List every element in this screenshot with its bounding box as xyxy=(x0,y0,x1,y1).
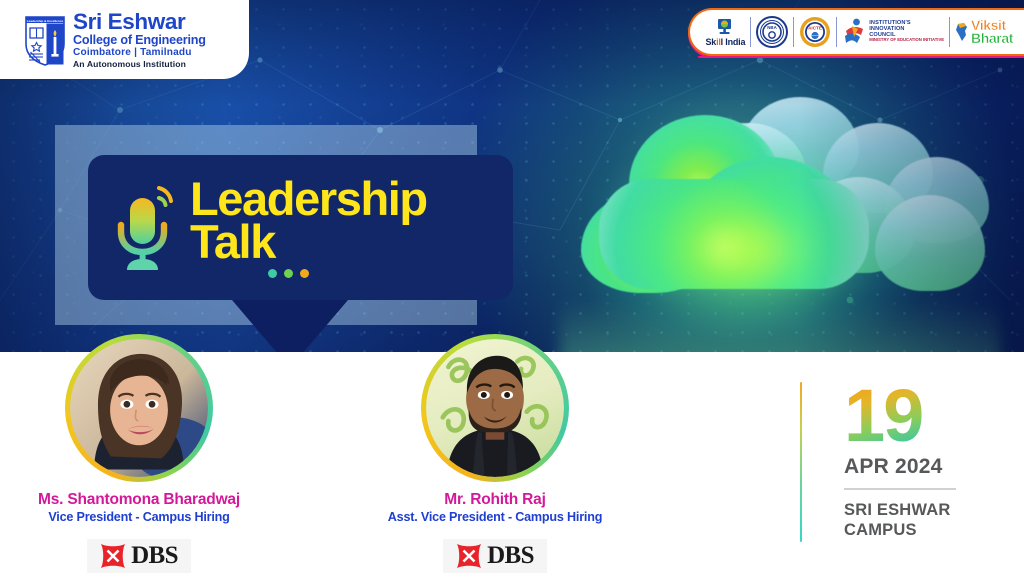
dot-3 xyxy=(300,269,309,278)
dbs-logo-icon xyxy=(456,543,482,569)
accreditation-iic: INSTITUTION'S INNOVATION COUNCIL MINISTR… xyxy=(837,12,949,52)
institution-location: Coimbatore | Tamilnadu xyxy=(73,48,206,58)
iic-line4: MINISTRY OF EDUCATION INITIATIVE xyxy=(869,38,944,42)
event-title-line2: Talk xyxy=(190,220,427,263)
accreditation-strip: Skill India NBA xyxy=(688,8,1024,56)
skill-india-label: Skill India xyxy=(705,37,745,47)
bharat-label: Bharat xyxy=(971,32,1013,45)
gradient-divider xyxy=(800,382,802,542)
microphone-icon xyxy=(114,184,176,272)
avatar xyxy=(70,339,208,477)
company-logo-2: DBS xyxy=(443,539,547,573)
event-title-badge: Leadership Talk xyxy=(88,155,513,300)
dbs-logo-icon xyxy=(100,543,126,569)
iic-figure-icon xyxy=(842,17,866,47)
venue-line1: SRI ESHWAR xyxy=(844,500,956,520)
institution-name: Sri Eshwar xyxy=(73,11,206,34)
speaker-card-1: Ms. Shantomona Bharadwaj Vice President … xyxy=(14,334,264,573)
speaker-role-1: Vice President - Campus Hiring xyxy=(14,510,264,524)
skill-india-icon xyxy=(714,18,736,36)
accreditation-seal: NBA xyxy=(751,12,793,52)
shield-book-torch-icon: Leadership & Excellence xyxy=(24,14,66,66)
decorative-dots xyxy=(268,269,427,278)
divider xyxy=(949,17,950,47)
svg-text:NBA: NBA xyxy=(768,25,778,30)
event-poster: Leadership & Excellence Sri Eshwar Colle… xyxy=(0,0,1024,584)
avatar-ring-1 xyxy=(65,334,213,482)
divider xyxy=(750,17,751,47)
avatar xyxy=(426,339,564,477)
speaker-card-2: Mr. Rohith Raj Asst. Vice President - Ca… xyxy=(352,334,638,573)
event-title-line1: Leadership xyxy=(190,177,427,220)
svg-text:AICTE: AICTE xyxy=(808,26,822,31)
dot-2 xyxy=(284,269,293,278)
speaker-role-2: Asst. Vice President - Campus Hiring xyxy=(352,510,638,524)
accreditation-skill-india: Skill India xyxy=(700,12,750,52)
svg-text:Leadership & Excellence: Leadership & Excellence xyxy=(27,18,64,22)
institution-status: An Autonomous Institution xyxy=(73,60,206,69)
event-day: 19 xyxy=(844,386,956,447)
divider xyxy=(793,17,794,47)
speaker-name-2: Mr. Rohith Raj xyxy=(352,491,638,509)
accreditation-viksit-bharat: Viksit Bharat xyxy=(950,12,1018,52)
speaker-name-1: Ms. Shantomona Bharadwaj xyxy=(14,491,264,509)
venue-line2: CAMPUS xyxy=(844,520,956,540)
institution-logo-plate: Leadership & Excellence Sri Eshwar Colle… xyxy=(0,0,249,79)
india-map-icon xyxy=(955,22,969,42)
divider xyxy=(836,17,837,47)
divider xyxy=(844,488,956,490)
speaker-photo-2 xyxy=(426,339,564,477)
institution-department: College of Engineering xyxy=(73,34,206,47)
dot-1 xyxy=(268,269,277,278)
accreditation-aicte: AICTE xyxy=(794,12,836,52)
date-venue-block: 19 APR 2024 SRI ESHWAR CAMPUS xyxy=(800,382,956,542)
company-logo-1: DBS xyxy=(87,539,191,573)
avatar-ring-2 xyxy=(421,334,569,482)
event-month-year: APR 2024 xyxy=(844,455,956,479)
speaker-photo-1 xyxy=(70,339,208,477)
aicte-gear-icon: AICTE xyxy=(799,16,831,48)
company-name-1: DBS xyxy=(131,542,178,570)
company-name-2: DBS xyxy=(487,542,534,570)
blue-seal-icon: NBA xyxy=(756,16,788,48)
